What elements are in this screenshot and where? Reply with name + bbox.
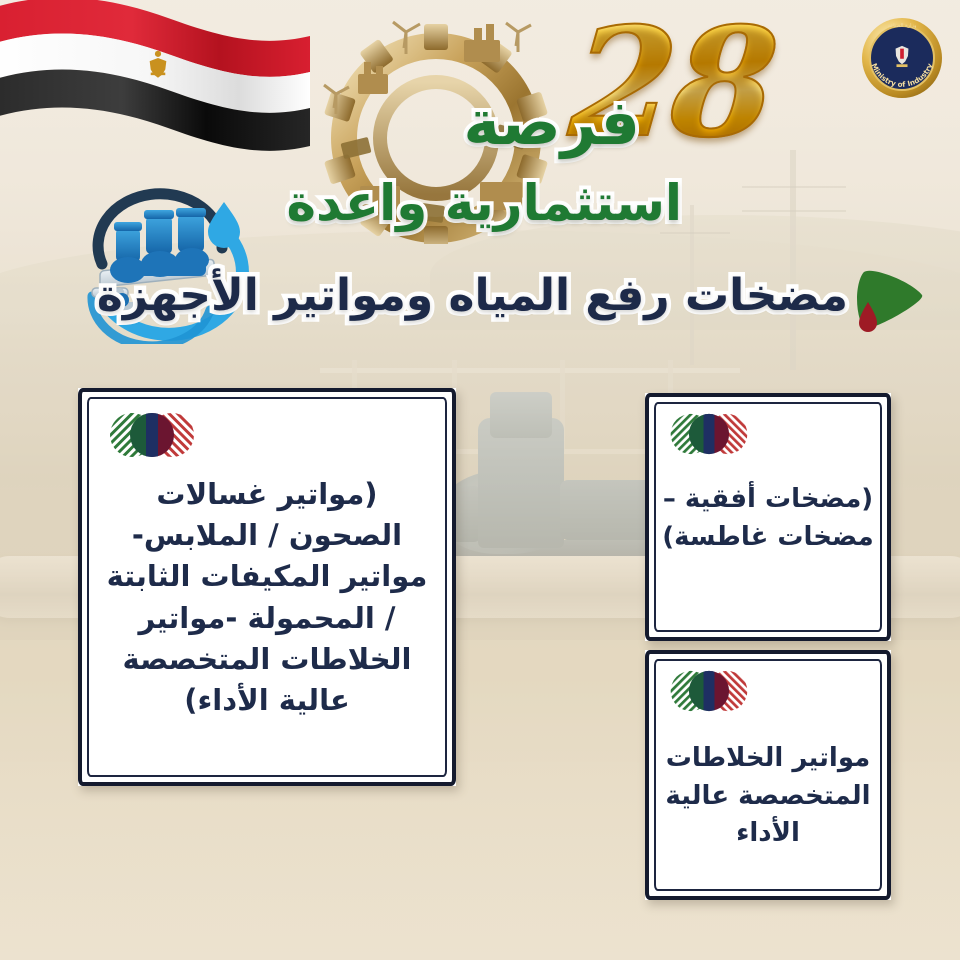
pump-side-motor — [560, 480, 656, 540]
power-wire — [660, 232, 730, 234]
subtitle-text: مضخات رفع المياه ومواتير الأجهزة — [97, 260, 848, 332]
three-circles-icon — [667, 670, 751, 712]
pump-motor — [490, 392, 552, 438]
opportunity-card[interactable]: مواتير الخلاطات المتخصصة عالية الأداء — [645, 650, 891, 900]
three-circles-icon — [106, 412, 198, 458]
card-text: (مضخات أفقية – مضخات غاطسة) — [661, 481, 875, 556]
headline-line-1: فرصة — [400, 92, 640, 154]
three-circles-icon — [667, 413, 751, 455]
headline-line-2: استثمارية واعدة — [352, 178, 682, 228]
seal-label-ar: وزارة الصناعة — [888, 23, 917, 29]
egypt-flag — [0, 0, 310, 172]
card-text: (مواتير غسالات الصحون / الملابس- مواتير … — [98, 474, 436, 721]
green-triangle-marker — [850, 262, 930, 336]
card-text: مواتير الخلاطات المتخصصة عالية الأداء — [661, 740, 875, 853]
power-wire — [742, 210, 846, 212]
opportunity-card[interactable]: (مضخات أفقية – مضخات غاطسة) — [645, 393, 891, 641]
subtitle-row: مضخات رفع المياه ومواتير الأجهزة — [150, 258, 940, 338]
opportunity-card[interactable]: (مواتير غسالات الصحون / الملابس- مواتير … — [78, 388, 456, 786]
infographic-poster: 28 فرصة استثمارية واعدة وزارة الصناعة — [0, 0, 960, 960]
power-wire — [742, 186, 846, 188]
ministry-of-industry-seal: وزارة الصناعة Ministry of Industry — [858, 14, 946, 102]
